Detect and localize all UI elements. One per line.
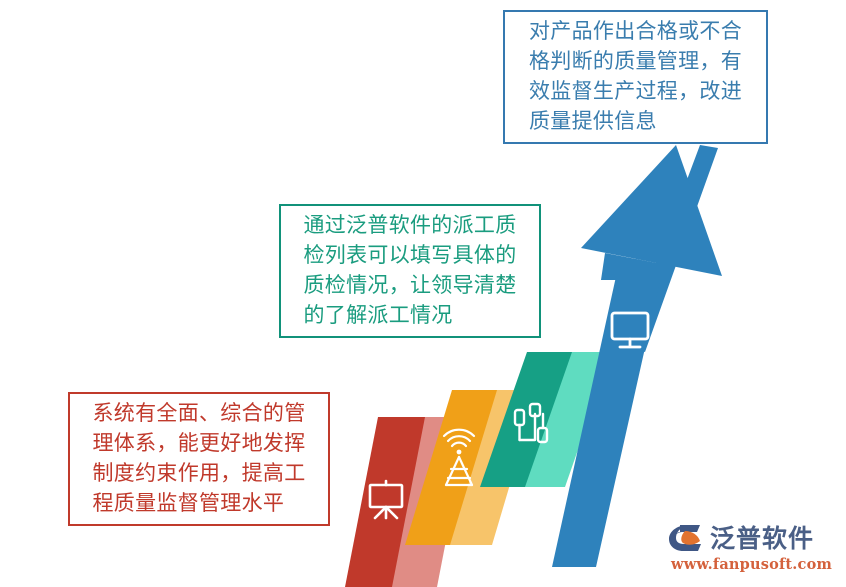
slide-canvas: 对产品作出合格或不合 格判断的质量管理，有 效监督生产过程，改进 质量提供信息 … — [0, 0, 846, 587]
brand-logo-row: 泛普软件 — [668, 523, 814, 553]
brand-logo: 泛普软件 www.fanpusoft.com — [668, 523, 832, 573]
callout-dispatch-inspection-text: 通过泛普软件的派工质 检列表可以填写具体的 质检情况，让领导清楚 的了解派工情况 — [298, 209, 523, 332]
callout-system-management: 系统有全面、综合的管 理体系，能更好地发挥 制度约束作用，提高工 程质量监督管理… — [68, 392, 330, 526]
callout-system-management-text: 系统有全面、综合的管 理体系，能更好地发挥 制度约束作用，提高工 程质量监督管理… — [87, 397, 312, 520]
callout-quality-management-text: 对产品作出合格或不合 格判断的质量管理，有 效监督生产过程，改进 质量提供信息 — [523, 15, 748, 138]
callout-dispatch-inspection: 通过泛普软件的派工质 检列表可以填写具体的 质检情况，让领导清楚 的了解派工情况 — [279, 204, 541, 338]
brand-logo-name: 泛普软件 — [710, 526, 814, 551]
fanpu-logo-mark-icon — [668, 523, 706, 553]
brand-logo-url: www.fanpusoft.com — [671, 556, 832, 573]
callout-quality-management: 对产品作出合格或不合 格判断的质量管理，有 效监督生产过程，改进 质量提供信息 — [503, 10, 768, 144]
